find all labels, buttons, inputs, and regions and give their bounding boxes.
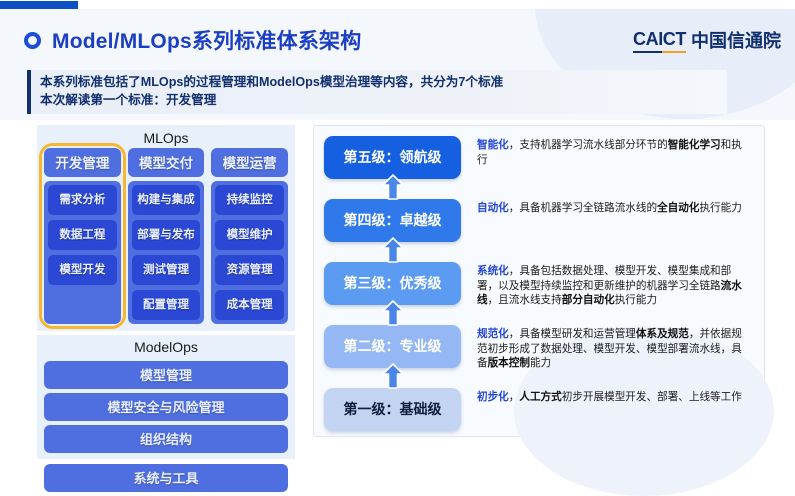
maturity-level-description: 系统化，具备包括数据处理、模型开发、模型集成和部署，以及模型持续监控和更新维护的…: [477, 262, 747, 308]
top-left-accent-bar: [0, 1, 78, 9]
maturity-level-keyword: 系统化: [477, 265, 509, 277]
mlops-item[interactable]: 模型维护: [215, 220, 284, 250]
mlops-column-items: 持续监控模型维护资源管理成本管理: [211, 181, 288, 324]
maturity-level-row: 第五级：领航级智能化，支持机器学习流水线部分环节的智能化学习和执行: [314, 136, 764, 179]
maturity-desc-emphasis: 部分自动化: [562, 294, 615, 306]
maturity-level-pill[interactable]: 第三级：优秀级: [324, 262, 461, 305]
maturity-level-description: 智能化，支持机器学习流水线部分环节的智能化学习和执行: [477, 136, 747, 167]
mlops-column-header[interactable]: 模型交付: [128, 148, 205, 177]
maturity-level-keyword: 自动化: [477, 202, 509, 214]
maturity-level-pill[interactable]: 第四级：卓越级: [324, 199, 461, 242]
mlops-column: 模型交付构建与集成部署与发布测试管理配置管理: [128, 148, 205, 324]
modelops-bar[interactable]: 模型管理: [44, 361, 288, 389]
maturity-desc-text: 执行能力: [615, 294, 657, 306]
maturity-desc-text: 初步开展模型开发、部署、上线等工作: [562, 391, 742, 403]
mlops-item[interactable]: 测试管理: [132, 255, 201, 285]
slide-header: Model/MLOps系列标准体系架构 CAICT 中国信通院 本系列标准包括了…: [0, 9, 795, 120]
level-up-arrow-icon: [382, 174, 404, 200]
maturity-desc-text: 执行能力: [699, 202, 741, 214]
level-up-arrow-icon: [382, 237, 404, 263]
mlops-column-header[interactable]: 开发管理: [44, 148, 121, 177]
maturity-desc-emphasis: 体系及规范: [636, 328, 689, 340]
mlops-columns: 开发管理需求分析数据工程模型开发模型交付构建与集成部署与发布测试管理配置管理模型…: [44, 148, 288, 324]
maturity-level-row: 第一级：基础级初步化，人工方式初步开展模型开发、部署、上线等工作: [314, 388, 764, 431]
mlops-item[interactable]: 持续监控: [215, 185, 284, 215]
page-title: Model/MLOps系列标准体系架构: [52, 25, 361, 55]
maturity-desc-text: ，: [509, 391, 520, 403]
slide-body: MLOps 开发管理需求分析数据工程模型开发模型交付构建与集成部署与发布测试管理…: [0, 120, 795, 448]
maturity-desc-text: ，具备机器学习全链路流水线的: [509, 202, 657, 214]
maturity-desc-text: 能力: [530, 357, 551, 369]
modelops-bar[interactable]: 组织结构: [44, 425, 288, 453]
maturity-level-pill[interactable]: 第一级：基础级: [324, 388, 461, 431]
brand-caict-text: CAICT: [633, 29, 686, 53]
mlops-column-items: 构建与集成部署与发布测试管理配置管理: [128, 181, 205, 324]
mlops-column-header[interactable]: 模型运营: [211, 148, 288, 177]
mlops-group: MLOps 开发管理需求分析数据工程模型开发模型交付构建与集成部署与发布测试管理…: [37, 125, 295, 331]
mlops-column-items: 需求分析数据工程模型开发: [44, 181, 121, 324]
maturity-level-row: 第四级：卓越级自动化，具备机器学习全链路流水线的全自动化执行能力: [314, 199, 764, 242]
maturity-level-description: 自动化，具备机器学习全链路流水线的全自动化执行能力: [477, 199, 747, 216]
maturity-desc-emphasis: 人工方式: [519, 391, 561, 403]
maturity-desc-emphasis: 版本控制: [488, 357, 530, 369]
maturity-level-pill[interactable]: 第五级：领航级: [324, 136, 461, 179]
mlops-item[interactable]: 构建与集成: [132, 185, 201, 215]
brand-chinese-text: 中国信通院: [691, 27, 781, 53]
subtitle-banner: 本系列标准包括了MLOps的过程管理和ModelOps模型治理等内容，共分为7个…: [27, 70, 727, 114]
maturity-desc-text: ，且流水线支持: [488, 294, 562, 306]
maturity-levels-panel: 第五级：领航级智能化，支持机器学习流水线部分环节的智能化学习和执行第四级：卓越级…: [313, 125, 765, 437]
system-tools-bar[interactable]: 系统与工具: [44, 464, 288, 492]
maturity-desc-emphasis: 全自动化: [657, 202, 699, 214]
mlops-item[interactable]: 数据工程: [48, 220, 117, 250]
caict-logo: CAICT 中国信通院: [633, 27, 781, 53]
mlops-item[interactable]: 资源管理: [215, 255, 284, 285]
mlops-item[interactable]: 模型开发: [48, 255, 117, 285]
mlops-column: 开发管理需求分析数据工程模型开发: [44, 148, 121, 324]
maturity-desc-text: ，支持机器学习流水线部分环节的: [509, 139, 668, 151]
mlops-group-title: MLOps: [44, 128, 288, 148]
subtitle-line-2: 本次解读第一个标准：开发管理: [40, 92, 727, 110]
maturity-level-pill[interactable]: 第二级：专业级: [324, 325, 461, 368]
mlops-item[interactable]: 需求分析: [48, 185, 117, 215]
mlops-item[interactable]: 成本管理: [215, 290, 284, 320]
level-up-arrow-icon: [382, 363, 404, 389]
mlops-item[interactable]: 配置管理: [132, 290, 201, 320]
mlops-item[interactable]: 部署与发布: [132, 220, 201, 250]
maturity-level-description: 规范化，具备模型研发和运营管理体系及规范，并依据规范初步形成了数据处理、模型开发…: [477, 325, 747, 371]
mlops-column: 模型运营持续监控模型维护资源管理成本管理: [211, 148, 288, 324]
maturity-level-keyword: 规范化: [477, 328, 509, 340]
modelops-bar[interactable]: 模型安全与风险管理: [44, 393, 288, 421]
level-up-arrow-icon: [382, 300, 404, 326]
ring-icon: [24, 32, 41, 49]
modelops-group: ModelOps 模型管理模型安全与风险管理组织结构: [37, 335, 295, 459]
maturity-desc-text: ，具备包括数据处理、模型开发、模型集成和部署，以及模型持续监控和更新维护的机器学…: [477, 265, 731, 292]
subtitle-line-1: 本系列标准包括了MLOps的过程管理和ModelOps模型治理等内容，共分为7个…: [40, 74, 727, 92]
maturity-desc-text: ，具备模型研发和运营管理: [509, 328, 636, 340]
title-row: Model/MLOps系列标准体系架构: [24, 25, 361, 55]
maturity-level-keyword: 智能化: [477, 139, 509, 151]
maturity-desc-emphasis: 智能化学习: [668, 139, 721, 151]
modelops-bar-list: 模型管理模型安全与风险管理组织结构: [44, 361, 288, 453]
maturity-level-description: 初步化，人工方式初步开展模型开发、部署、上线等工作: [477, 388, 747, 405]
maturity-level-keyword: 初步化: [477, 391, 509, 403]
standards-architecture-panel: MLOps 开发管理需求分析数据工程模型开发模型交付构建与集成部署与发布测试管理…: [37, 125, 295, 492]
modelops-group-title: ModelOps: [44, 337, 288, 357]
